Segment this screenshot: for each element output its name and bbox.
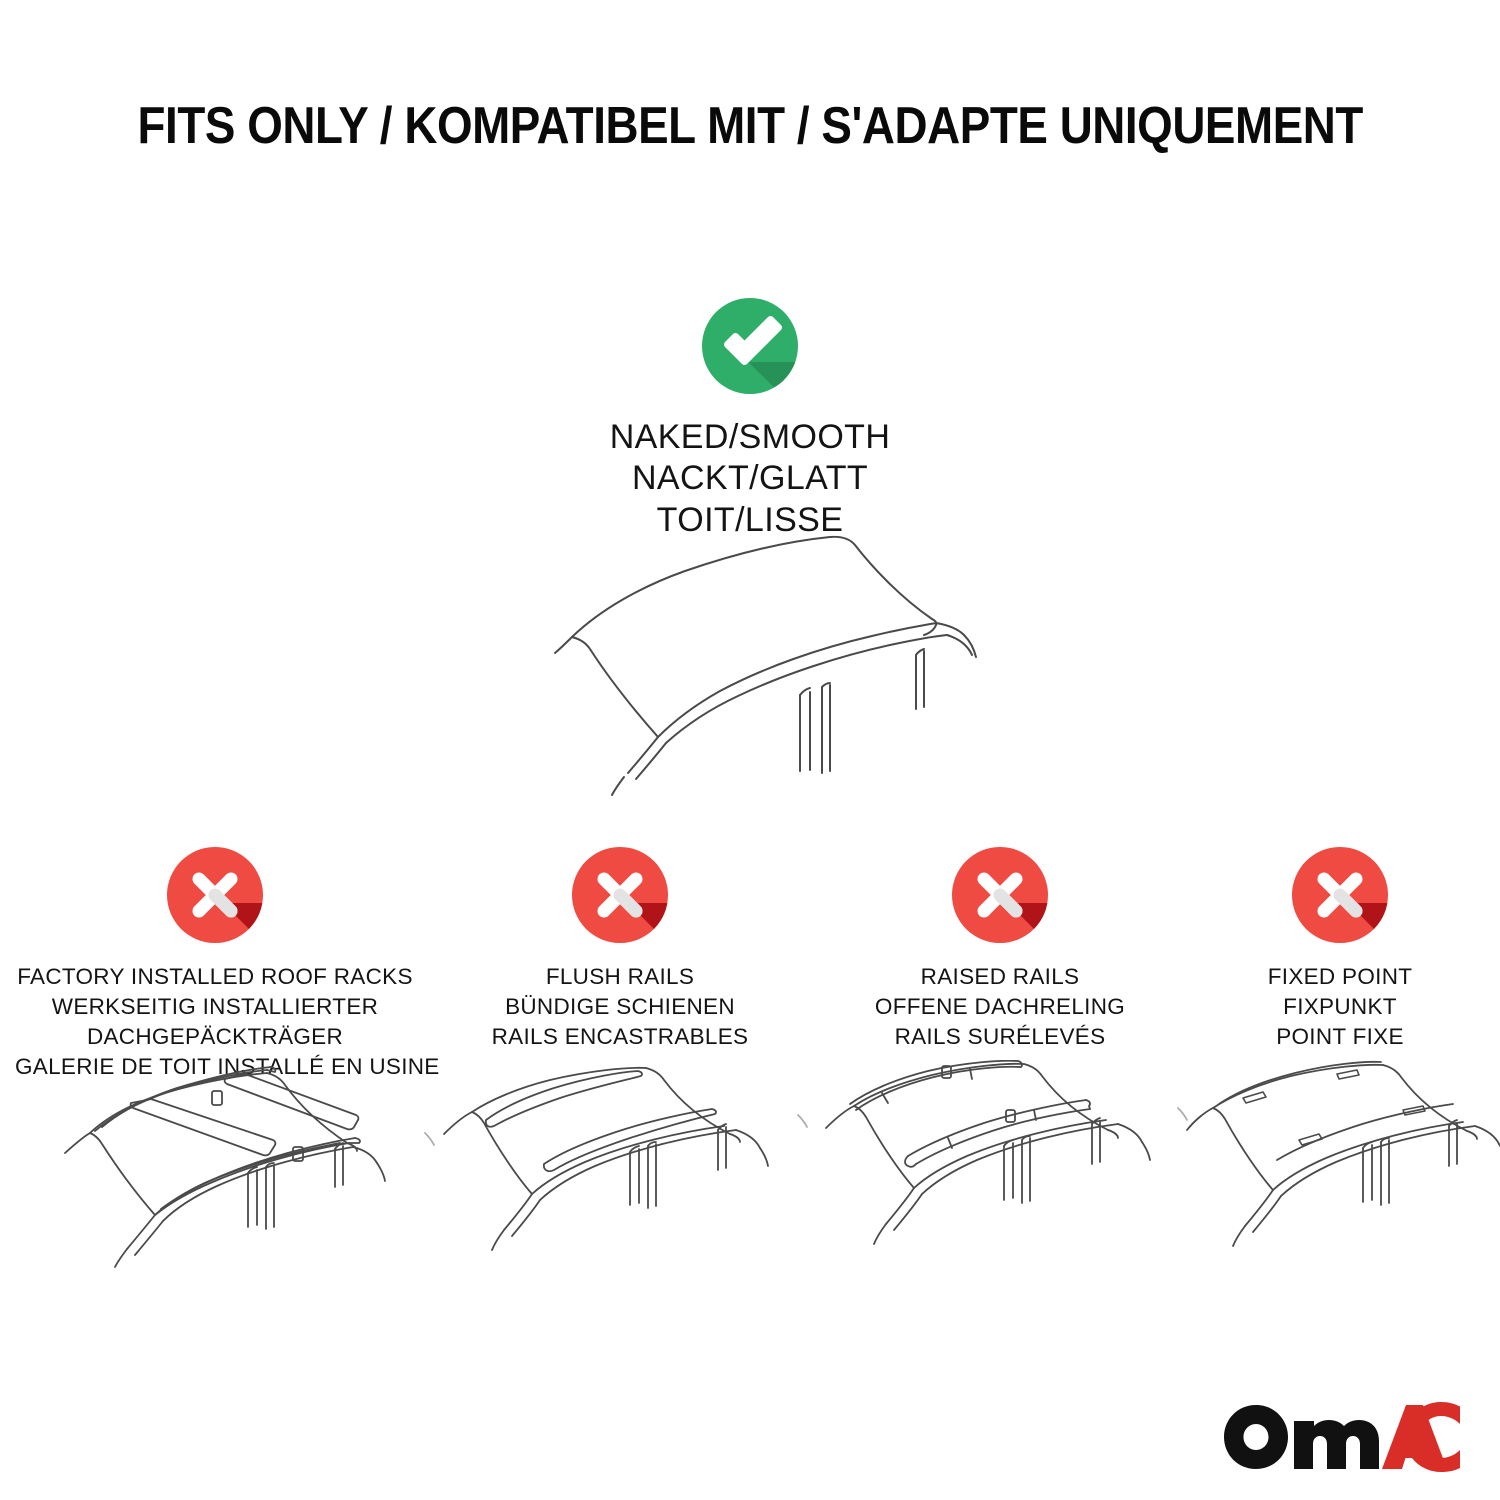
- raised-rails-label: RAISED RAILS OFFENE DACHRELING RAILS SUR…: [810, 962, 1190, 1052]
- cross-circle-icon: [165, 845, 265, 945]
- flush-rails-icon-holder: [570, 845, 670, 945]
- flush-rails-label-line-3: RAILS ENCASTRABLES: [430, 1022, 810, 1052]
- incompatible-column-factory-roof-racks: FACTORY INSTALLED ROOF RACKS WERKSEITIG …: [15, 845, 415, 1082]
- raised-rails-icon-holder: [950, 845, 1050, 945]
- car-roof-with-flush-rails-illustration: [440, 1060, 810, 1285]
- cross-circle-icon: [950, 845, 1050, 945]
- page-title: FITS ONLY / KOMPATIBEL MIT / S'ADAPTE UN…: [0, 100, 1500, 152]
- fixed-point-icon-holder: [1290, 845, 1390, 945]
- factory-roof-racks-icon-holder: [165, 845, 265, 945]
- check-circle-icon: [700, 296, 800, 396]
- raised-rails-label-line-2: OFFENE DACHRELING: [810, 992, 1190, 1022]
- cross-circle-icon: [1290, 845, 1390, 945]
- compatible-icon-wrap: [700, 296, 800, 396]
- car-roof-with-factory-crossbars-illustration: [35, 1055, 435, 1285]
- compatible-label-line-2: NACKT/GLATT: [0, 458, 1500, 499]
- fixed-point-label: FIXED POINT FIXPUNKT POINT FIXE: [1190, 962, 1490, 1052]
- compatible-label-line-1: NAKED/SMOOTH: [0, 417, 1500, 458]
- bare-smooth-car-roof-illustration: [500, 515, 1020, 805]
- logo-letter-m: [1294, 1420, 1379, 1469]
- flush-rails-label: FLUSH RAILS BÜNDIGE SCHIENEN RAILS ENCAS…: [430, 962, 810, 1052]
- page-title-text: FITS ONLY / KOMPATIBEL MIT / S'ADAPTE UN…: [137, 100, 1362, 152]
- logo-letter-o: [1224, 1405, 1288, 1469]
- factory-roof-racks-label-line-1: FACTORY INSTALLED ROOF RACKS: [15, 962, 415, 992]
- incompatible-column-flush-rails: FLUSH RAILS BÜNDIGE SCHIENEN RAILS ENCAS…: [430, 845, 810, 1052]
- fixed-point-label-line-1: FIXED POINT: [1190, 962, 1490, 992]
- fixed-point-label-line-3: POINT FIXE: [1190, 1022, 1490, 1052]
- factory-roof-racks-label-line-3: DACHGEPÄCKTRÄGER: [15, 1022, 415, 1052]
- flush-rails-label-line-1: FLUSH RAILS: [430, 962, 810, 992]
- car-roof-with-raised-rails-illustration: [820, 1060, 1190, 1285]
- flush-rails-label-line-2: BÜNDIGE SCHIENEN: [430, 992, 810, 1022]
- raised-rails-label-line-3: RAILS SURÉLEVÉS: [810, 1022, 1190, 1052]
- fixed-point-label-line-2: FIXPUNKT: [1190, 992, 1490, 1022]
- omac-logo: [1222, 1402, 1462, 1472]
- incompatible-column-fixed-point: FIXED POINT FIXPUNKT POINT FIXE: [1190, 845, 1490, 1052]
- cross-circle-icon: [570, 845, 670, 945]
- car-roof-with-fixed-points-illustration: [1185, 1060, 1500, 1285]
- factory-roof-racks-label-line-2: WERKSEITIG INSTALLIERTER: [15, 992, 415, 1022]
- compatible-section: NAKED/SMOOTH NACKT/GLATT TOIT/LISSE: [0, 296, 1500, 541]
- raised-rails-label-line-1: RAISED RAILS: [810, 962, 1190, 992]
- incompatible-column-raised-rails: RAISED RAILS OFFENE DACHRELING RAILS SUR…: [810, 845, 1190, 1052]
